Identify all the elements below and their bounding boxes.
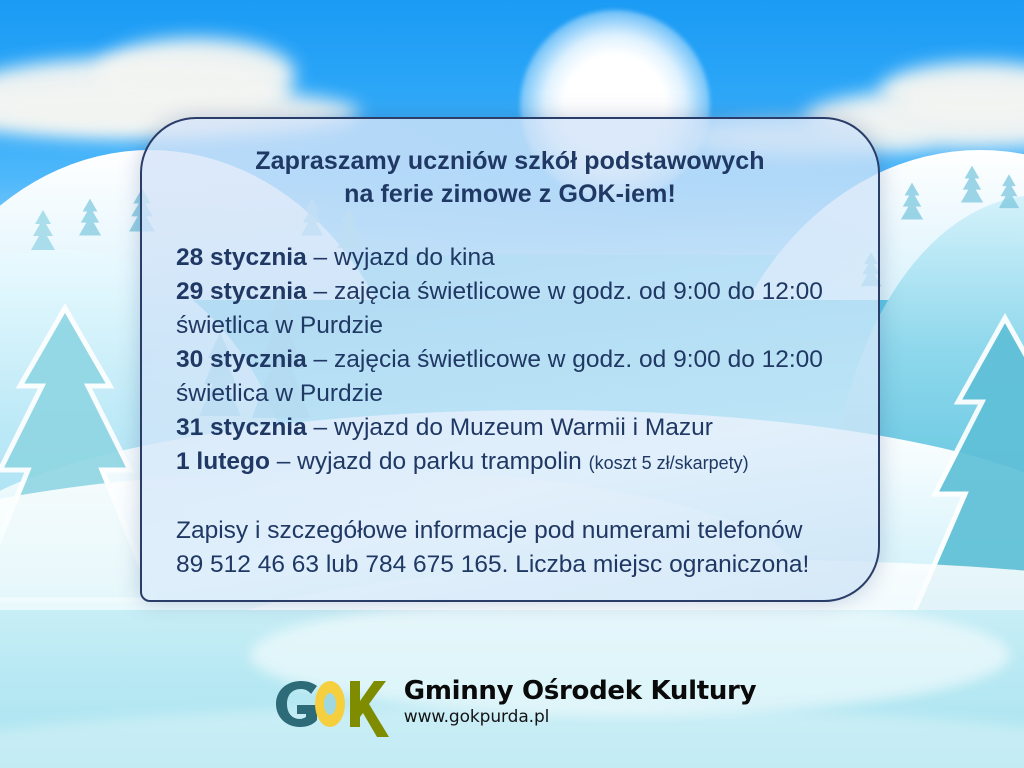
contact-line-2: 89 512 46 63 lub 784 675 165. Liczba mie… <box>176 548 844 582</box>
winter-holiday-poster: Zapraszamy uczniów szkół podstawowych na… <box>0 0 1024 768</box>
announcement-panel: Zapraszamy uczniów szkół podstawowych na… <box>140 117 880 602</box>
schedule-date: 1 lutego <box>176 448 270 475</box>
schedule-text: wyjazd do parku trampolin <box>297 448 588 475</box>
schedule-date: 28 stycznia <box>176 244 307 271</box>
gok-monogram-icon <box>268 671 390 733</box>
gok-logo: Gminny Ośrodek Kultury www.gokpurda.pl <box>0 662 1024 742</box>
pine-tree-icon <box>30 208 56 254</box>
schedule-date: 31 stycznia <box>176 414 307 441</box>
schedule-dash: – <box>270 448 297 475</box>
logo-text-block: Gminny Ośrodek Kultury www.gokpurda.pl <box>404 676 756 728</box>
schedule-text: zajęcia świetlicowe w godz. od 9:00 do 1… <box>334 278 823 305</box>
contact-info: Zapisy i szczegółowe informacje pod nume… <box>176 514 844 582</box>
pine-tree-icon <box>960 163 984 207</box>
schedule-item: 31 stycznia – wyjazd do Muzeum Warmii i … <box>176 411 844 445</box>
schedule-note: (koszt 5 zł/skarpety) <box>589 453 749 473</box>
schedule-dash: – <box>307 278 334 305</box>
schedule-item: 1 lutego – wyjazd do parku trampolin (ko… <box>176 445 844 480</box>
schedule-item: 28 stycznia – wyjazd do kina <box>176 241 844 275</box>
title-line-2: na ferie zimowe z GOK-iem! <box>176 178 844 211</box>
schedule-item: świetlica w Purdzie <box>176 377 844 411</box>
schedule-dash: – <box>307 244 334 271</box>
schedule-date: 30 stycznia <box>176 346 307 373</box>
schedule-text: świetlica w Purdzie <box>176 380 383 407</box>
schedule-date: 29 stycznia <box>176 278 307 305</box>
title-line-1: Zapraszamy uczniów szkół podstawowych <box>176 145 844 178</box>
schedule-text: świetlica w Purdzie <box>176 312 383 339</box>
organization-name: Gminny Ośrodek Kultury <box>404 676 756 706</box>
pine-tree-icon <box>78 196 102 240</box>
schedule-dash: – <box>307 414 334 441</box>
panel-title: Zapraszamy uczniów szkół podstawowych na… <box>176 145 844 211</box>
pine-tree-icon <box>900 180 924 224</box>
schedule-item: 30 stycznia – zajęcia świetlicowe w godz… <box>176 343 844 377</box>
schedule-item: świetlica w Purdzie <box>176 309 844 343</box>
contact-line-1: Zapisy i szczegółowe informacje pod nume… <box>176 514 844 548</box>
schedule-dash: – <box>307 346 334 373</box>
schedule-list: 28 stycznia – wyjazd do kina 29 stycznia… <box>176 241 844 480</box>
schedule-text: wyjazd do kina <box>334 244 495 271</box>
schedule-text: wyjazd do Muzeum Warmii i Mazur <box>334 414 713 441</box>
pine-tree-icon <box>998 172 1020 212</box>
schedule-text: zajęcia świetlicowe w godz. od 9:00 do 1… <box>334 346 823 373</box>
website-url: www.gokpurda.pl <box>404 706 756 728</box>
schedule-item: 29 stycznia – zajęcia świetlicowe w godz… <box>176 275 844 309</box>
